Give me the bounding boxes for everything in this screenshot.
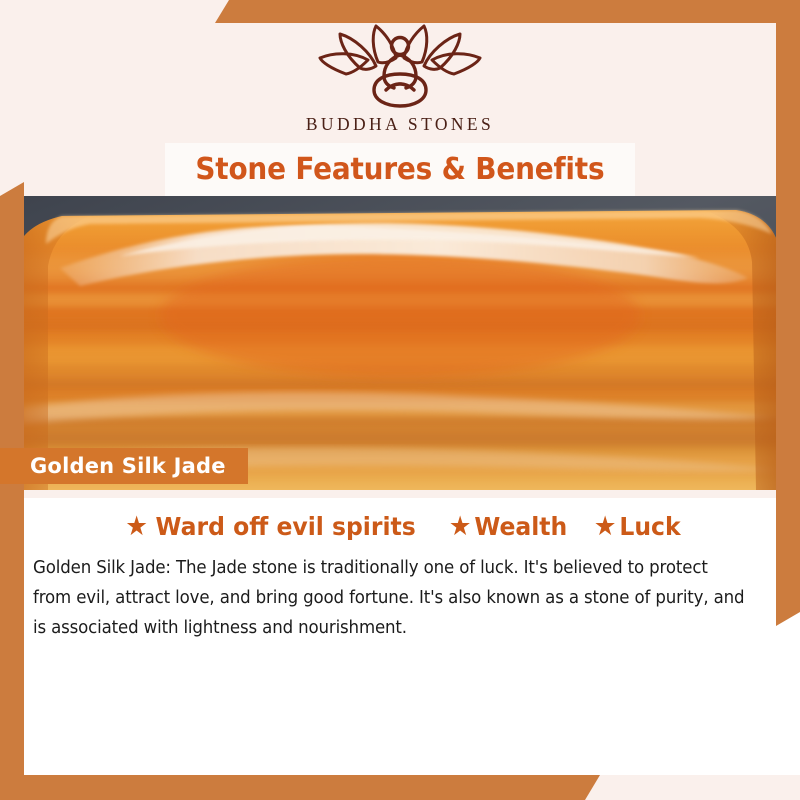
- page-title: Stone Features & Benefits: [196, 152, 605, 187]
- frame-left-band: [0, 196, 24, 775]
- benefit-item: ★ Ward off evil spirits: [126, 512, 416, 541]
- star-icon: ★: [449, 513, 472, 540]
- benefit-label: Ward off evil spirits: [156, 512, 416, 541]
- frame-top-band: [215, 0, 800, 23]
- stone-features-infographic: Golden Silk Jade: [0, 0, 800, 800]
- stone-photo: [0, 196, 800, 490]
- star-icon: ★: [594, 513, 617, 540]
- frame-right-band: [776, 0, 800, 612]
- content-section: ★ Ward off evil spirits ★ Wealth ★ Luck …: [0, 490, 800, 775]
- stone-name-text: Golden Silk Jade: [30, 454, 226, 478]
- lotus-meditation-figure-icon: [316, 18, 484, 110]
- benefit-item: ★ Wealth: [449, 512, 567, 541]
- brand-logo: BUDDHA STONES: [0, 18, 800, 135]
- brand-name: BUDDHA STONES: [306, 114, 494, 135]
- benefit-item: ★ Luck: [594, 512, 681, 541]
- star-icon: ★: [126, 513, 149, 540]
- benefits-list: ★ Ward off evil spirits ★ Wealth ★ Luck: [0, 512, 800, 541]
- frame-bottom-band: [0, 775, 600, 800]
- content-top-strip: [0, 490, 800, 498]
- stone-name-label: Golden Silk Jade: [0, 448, 248, 484]
- benefit-label: Wealth: [475, 512, 568, 541]
- description-paragraph: Golden Silk Jade: The Jade stone is trad…: [33, 553, 744, 643]
- benefit-label: Luck: [620, 512, 681, 541]
- page-title-card: Stone Features & Benefits: [165, 143, 635, 196]
